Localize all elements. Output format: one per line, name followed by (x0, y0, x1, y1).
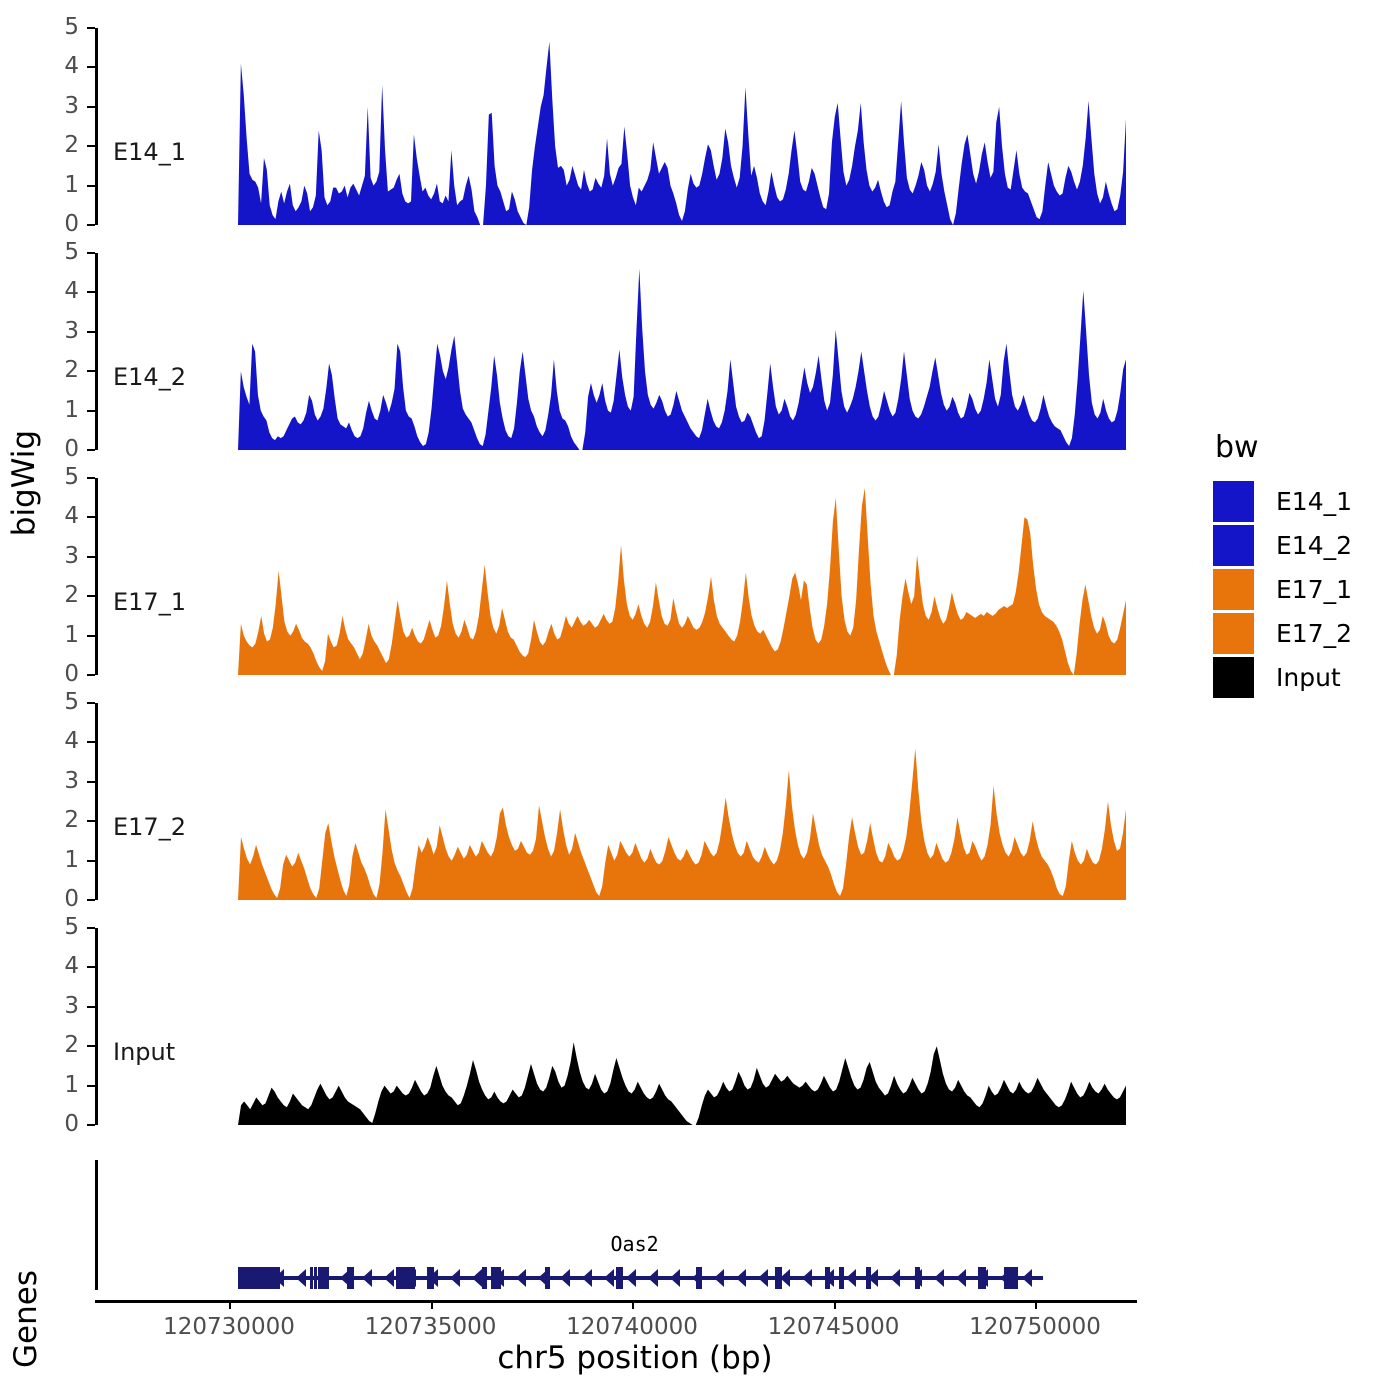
y-tick-label: 5 (19, 691, 79, 714)
legend-key-swatch (1213, 525, 1254, 566)
x-tick (229, 1300, 231, 1309)
y-tick (87, 635, 95, 637)
exon[interactable] (1004, 1267, 1018, 1289)
exon[interactable] (396, 1267, 415, 1289)
y-tick-label: 0 (19, 888, 79, 911)
legend-key-swatch (1213, 481, 1254, 522)
track-label-input: Input (113, 1038, 175, 1066)
track-label-e14_1: E14_1 (113, 138, 186, 166)
y-tick (87, 370, 95, 372)
y-tick (87, 741, 95, 743)
legend-label: E17_1 (1276, 575, 1352, 604)
x-tick (632, 1300, 634, 1309)
y-tick (87, 1124, 95, 1126)
exon[interactable] (915, 1267, 920, 1289)
strand-arrow-icon (560, 1269, 570, 1287)
intron-line (238, 1276, 1043, 1280)
track-panel-e14_2: 012345E14_2 (0, 253, 1200, 450)
y-tick (87, 927, 95, 929)
x-tick-label: 120745000 (734, 1316, 934, 1339)
exon[interactable] (427, 1267, 434, 1289)
y-tick (87, 224, 95, 226)
strand-arrow-icon (626, 1269, 636, 1287)
y-tick-label: 4 (19, 55, 79, 78)
exon[interactable] (775, 1267, 782, 1289)
x-tick (834, 1300, 836, 1309)
gene-track-panel: Oas2 (95, 1160, 1135, 1290)
y-tick-label: 4 (19, 730, 79, 753)
x-tick-label: 120730000 (129, 1316, 329, 1339)
strand-arrow-icon (296, 1269, 306, 1287)
strand-arrow-icon (802, 1269, 812, 1287)
y-tick (87, 66, 95, 68)
y-tick-label: 1 (19, 174, 79, 197)
y-tick-label: 2 (19, 1034, 79, 1057)
y-tick (87, 702, 95, 704)
legend-item-e17_1[interactable]: E17_1 (1213, 569, 1352, 610)
y-tick-label: 4 (19, 505, 79, 528)
y-tick (87, 674, 95, 676)
legend-item-e17_2[interactable]: E17_2 (1213, 613, 1352, 654)
legend-item-e14_2[interactable]: E14_2 (1213, 525, 1352, 566)
y-tick (87, 1006, 95, 1008)
exon[interactable] (482, 1267, 487, 1289)
y-tick-label: 3 (19, 95, 79, 118)
legend-label: E14_2 (1276, 531, 1352, 560)
exon[interactable] (696, 1267, 702, 1289)
y-tick (87, 556, 95, 558)
x-axis-line (95, 1300, 1137, 1303)
y-tick-label: 1 (19, 1074, 79, 1097)
y-tick-label: 3 (19, 995, 79, 1018)
y-tick-label: 2 (19, 359, 79, 382)
y-axis-line (95, 478, 98, 675)
y-tick-label: 0 (19, 213, 79, 236)
strand-arrow-icon (846, 1269, 856, 1287)
strand-arrow-icon (1022, 1269, 1032, 1287)
exon[interactable] (825, 1267, 830, 1289)
y-tick (87, 820, 95, 822)
y-tick (87, 27, 95, 29)
legend-key-swatch (1213, 613, 1254, 654)
strand-arrow-icon (604, 1269, 614, 1287)
coverage-area-input (238, 928, 1126, 1125)
y-tick-label: 2 (19, 809, 79, 832)
strand-arrow-icon (890, 1269, 900, 1287)
y-tick-label: 5 (19, 916, 79, 939)
exon[interactable] (491, 1267, 501, 1289)
x-tick (431, 1300, 433, 1309)
genome-browser-figure: bigWig Genes 012345E14_1012345E14_201234… (0, 0, 1400, 1400)
y-axis-line (95, 28, 98, 225)
strand-arrow-icon (736, 1269, 746, 1287)
y-tick (87, 1045, 95, 1047)
y-tick-label: 2 (19, 584, 79, 607)
y-tick (87, 595, 95, 597)
y-tick-label: 4 (19, 955, 79, 978)
strand-arrow-icon (516, 1269, 526, 1287)
y-tick (87, 291, 95, 293)
exon[interactable] (839, 1267, 844, 1289)
x-tick-label: 120750000 (935, 1316, 1135, 1339)
y-axis-line (95, 928, 98, 1125)
y-tick (87, 145, 95, 147)
strand-arrow-icon (384, 1269, 394, 1287)
strand-arrow-icon (648, 1269, 658, 1287)
gene-panel-axis-line (95, 1160, 98, 1290)
track-panel-e17_2: 012345E17_2 (0, 703, 1200, 900)
strand-arrow-icon (758, 1269, 768, 1287)
y-tick-label: 4 (19, 280, 79, 303)
y-tick (87, 331, 95, 333)
y-tick-label: 0 (19, 438, 79, 461)
y-tick (87, 516, 95, 518)
exon[interactable] (314, 1267, 317, 1289)
exon[interactable] (310, 1267, 313, 1289)
coverage-area-e14_2 (238, 253, 1126, 450)
exon[interactable] (545, 1267, 550, 1289)
y-tick-label: 3 (19, 545, 79, 568)
x-tick-label: 120740000 (532, 1316, 732, 1339)
legend-item-e14_1[interactable]: E14_1 (1213, 481, 1352, 522)
y-tick (87, 860, 95, 862)
track-label-e17_2: E17_2 (113, 813, 186, 841)
y-tick (87, 449, 95, 451)
x-tick (1035, 1300, 1037, 1309)
strand-arrow-icon (362, 1269, 372, 1287)
y-tick (87, 252, 95, 254)
coverage-area-e14_1 (238, 28, 1126, 225)
legend-items: E14_1E14_2E17_1E17_2Input (1213, 481, 1352, 698)
y-tick-label: 5 (19, 241, 79, 264)
exon[interactable] (318, 1267, 329, 1289)
legend: bw E14_1E14_2E17_1E17_2Input (1213, 430, 1352, 701)
legend-key-swatch (1213, 569, 1254, 610)
x-tick-label: 120735000 (331, 1316, 531, 1339)
track-label-e14_2: E14_2 (113, 363, 186, 391)
y-tick (87, 410, 95, 412)
y-tick-label: 0 (19, 1113, 79, 1136)
y-axis-title-genes: Genes (8, 1270, 44, 1368)
y-axis-line (95, 253, 98, 450)
y-tick (87, 185, 95, 187)
track-panel-e14_1: 012345E14_1 (0, 28, 1200, 225)
coverage-area-e17_1 (238, 478, 1126, 675)
coverage-area-e17_2 (238, 703, 1126, 900)
y-tick (87, 966, 95, 968)
y-tick-label: 2 (19, 134, 79, 157)
exon[interactable] (866, 1267, 871, 1289)
y-tick (87, 1085, 95, 1087)
track-panel-e17_1: 012345E17_1 (0, 478, 1200, 675)
y-tick-label: 5 (19, 16, 79, 39)
strand-arrow-icon (670, 1269, 680, 1287)
y-tick-label: 1 (19, 624, 79, 647)
legend-label: E14_1 (1276, 487, 1352, 516)
y-tick-label: 3 (19, 770, 79, 793)
exon[interactable] (616, 1267, 623, 1289)
y-tick-label: 0 (19, 663, 79, 686)
y-axis-line (95, 703, 98, 900)
y-tick (87, 781, 95, 783)
exon[interactable] (347, 1267, 354, 1289)
legend-label: E17_2 (1276, 619, 1352, 648)
y-tick-label: 5 (19, 466, 79, 489)
legend-title: bw (1215, 430, 1352, 465)
exon[interactable] (978, 1267, 986, 1289)
gene-name-label: Oas2 (611, 1232, 659, 1256)
strand-arrow-icon (472, 1269, 482, 1287)
y-tick-label: 1 (19, 849, 79, 872)
strand-arrow-icon (714, 1269, 724, 1287)
exon[interactable] (238, 1267, 280, 1289)
track-label-e17_1: E17_1 (113, 588, 186, 616)
legend-item-input[interactable]: Input (1213, 657, 1352, 698)
x-axis-title: chr5 position (bp) (85, 1340, 1185, 1376)
y-tick-label: 3 (19, 320, 79, 343)
legend-key-swatch (1213, 657, 1254, 698)
strand-arrow-icon (956, 1269, 966, 1287)
y-tick-label: 1 (19, 399, 79, 422)
legend-label: Input (1276, 663, 1341, 692)
strand-arrow-icon (934, 1269, 944, 1287)
strand-arrow-icon (582, 1269, 592, 1287)
strand-arrow-icon (450, 1269, 460, 1287)
y-tick (87, 106, 95, 108)
y-tick (87, 899, 95, 901)
y-tick (87, 477, 95, 479)
track-panel-input: 012345Input (0, 928, 1200, 1125)
